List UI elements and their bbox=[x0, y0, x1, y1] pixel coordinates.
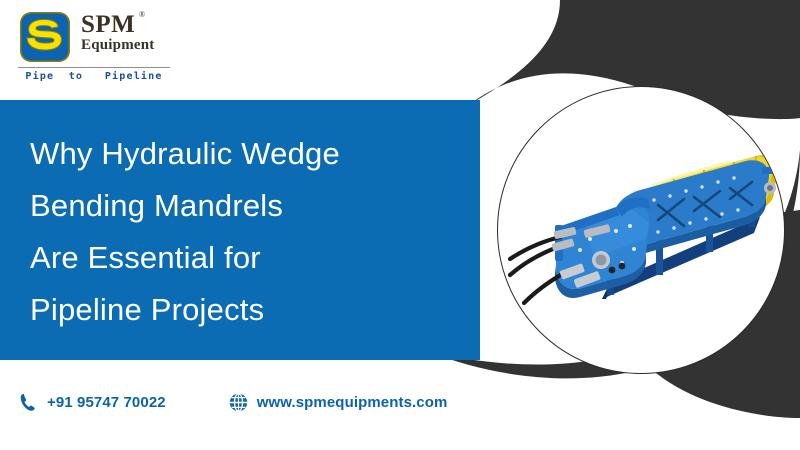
hydraulic-wedge-bending-mandrel-image bbox=[498, 87, 784, 373]
spm-s-monogram-icon bbox=[18, 10, 72, 64]
registered-trademark-icon: ® bbox=[139, 10, 145, 19]
logo-name-secondary: Equipment bbox=[81, 37, 155, 54]
headline-line-3: Are Essential for bbox=[30, 232, 460, 284]
headline-line-2: Bending Mandrels bbox=[30, 180, 460, 232]
page-title: Why Hydraulic Wedge Bending Mandrels Are… bbox=[30, 128, 460, 336]
phone-icon bbox=[18, 392, 39, 413]
website-url: www.spmequipments.com bbox=[257, 394, 448, 411]
headline-banner: Why Hydraulic Wedge Bending Mandrels Are… bbox=[0, 100, 480, 360]
phone-number: +91 95747 70022 bbox=[47, 394, 166, 411]
contact-phone[interactable]: +91 95747 70022 bbox=[18, 392, 166, 413]
product-image-circle bbox=[497, 86, 785, 374]
contact-website[interactable]: www.spmequipments.com bbox=[228, 392, 448, 413]
globe-icon bbox=[228, 392, 249, 413]
contact-bar: +91 95747 70022 www.spmequipments.com bbox=[18, 392, 447, 413]
logo-divider bbox=[18, 67, 170, 68]
brand-logo[interactable]: SPM ® Equipment Pipe to Pipeline bbox=[18, 10, 188, 82]
logo-tagline: Pipe to Pipeline bbox=[18, 71, 170, 82]
banner-canvas: SPM ® Equipment Pipe to Pipeline Why Hyd… bbox=[0, 0, 800, 450]
headline-line-4: Pipeline Projects bbox=[30, 284, 460, 336]
headline-line-1: Why Hydraulic Wedge bbox=[30, 128, 460, 180]
